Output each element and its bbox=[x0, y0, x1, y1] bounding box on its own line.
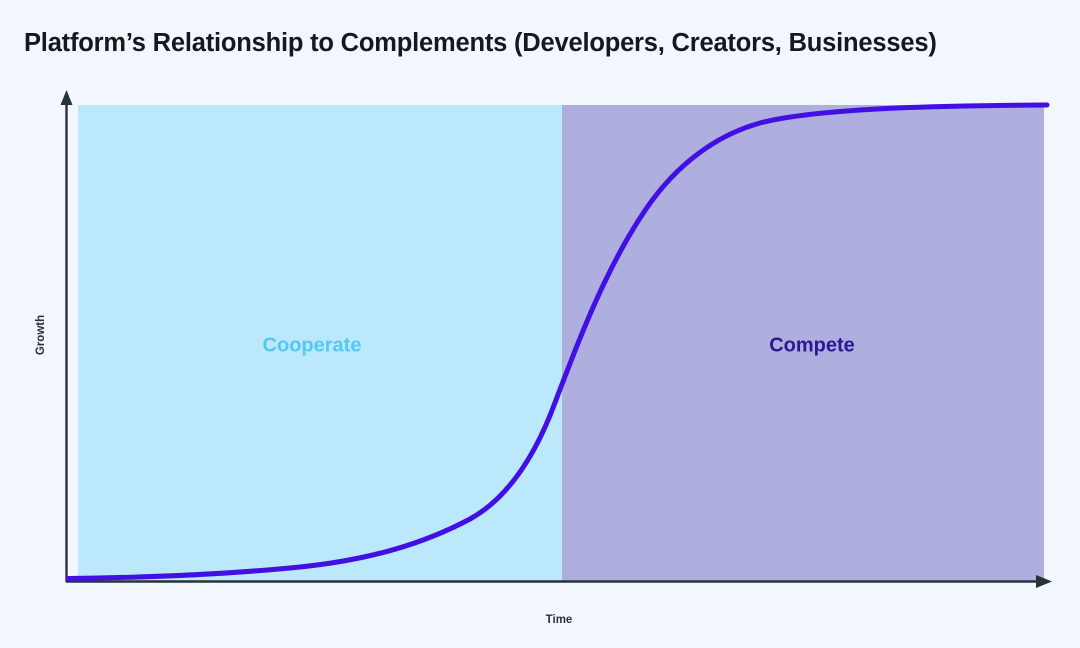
chart-container: Platform’s Relationship to Complements (… bbox=[0, 0, 1080, 648]
region-label-cooperate: Cooperate bbox=[263, 335, 362, 358]
region-label-compete: Compete bbox=[769, 335, 855, 358]
y-axis-label: Growth bbox=[35, 315, 47, 355]
y-axis-arrowhead bbox=[61, 90, 73, 105]
plot-area bbox=[0, 0, 1080, 648]
x-axis-label: Time bbox=[546, 614, 573, 626]
